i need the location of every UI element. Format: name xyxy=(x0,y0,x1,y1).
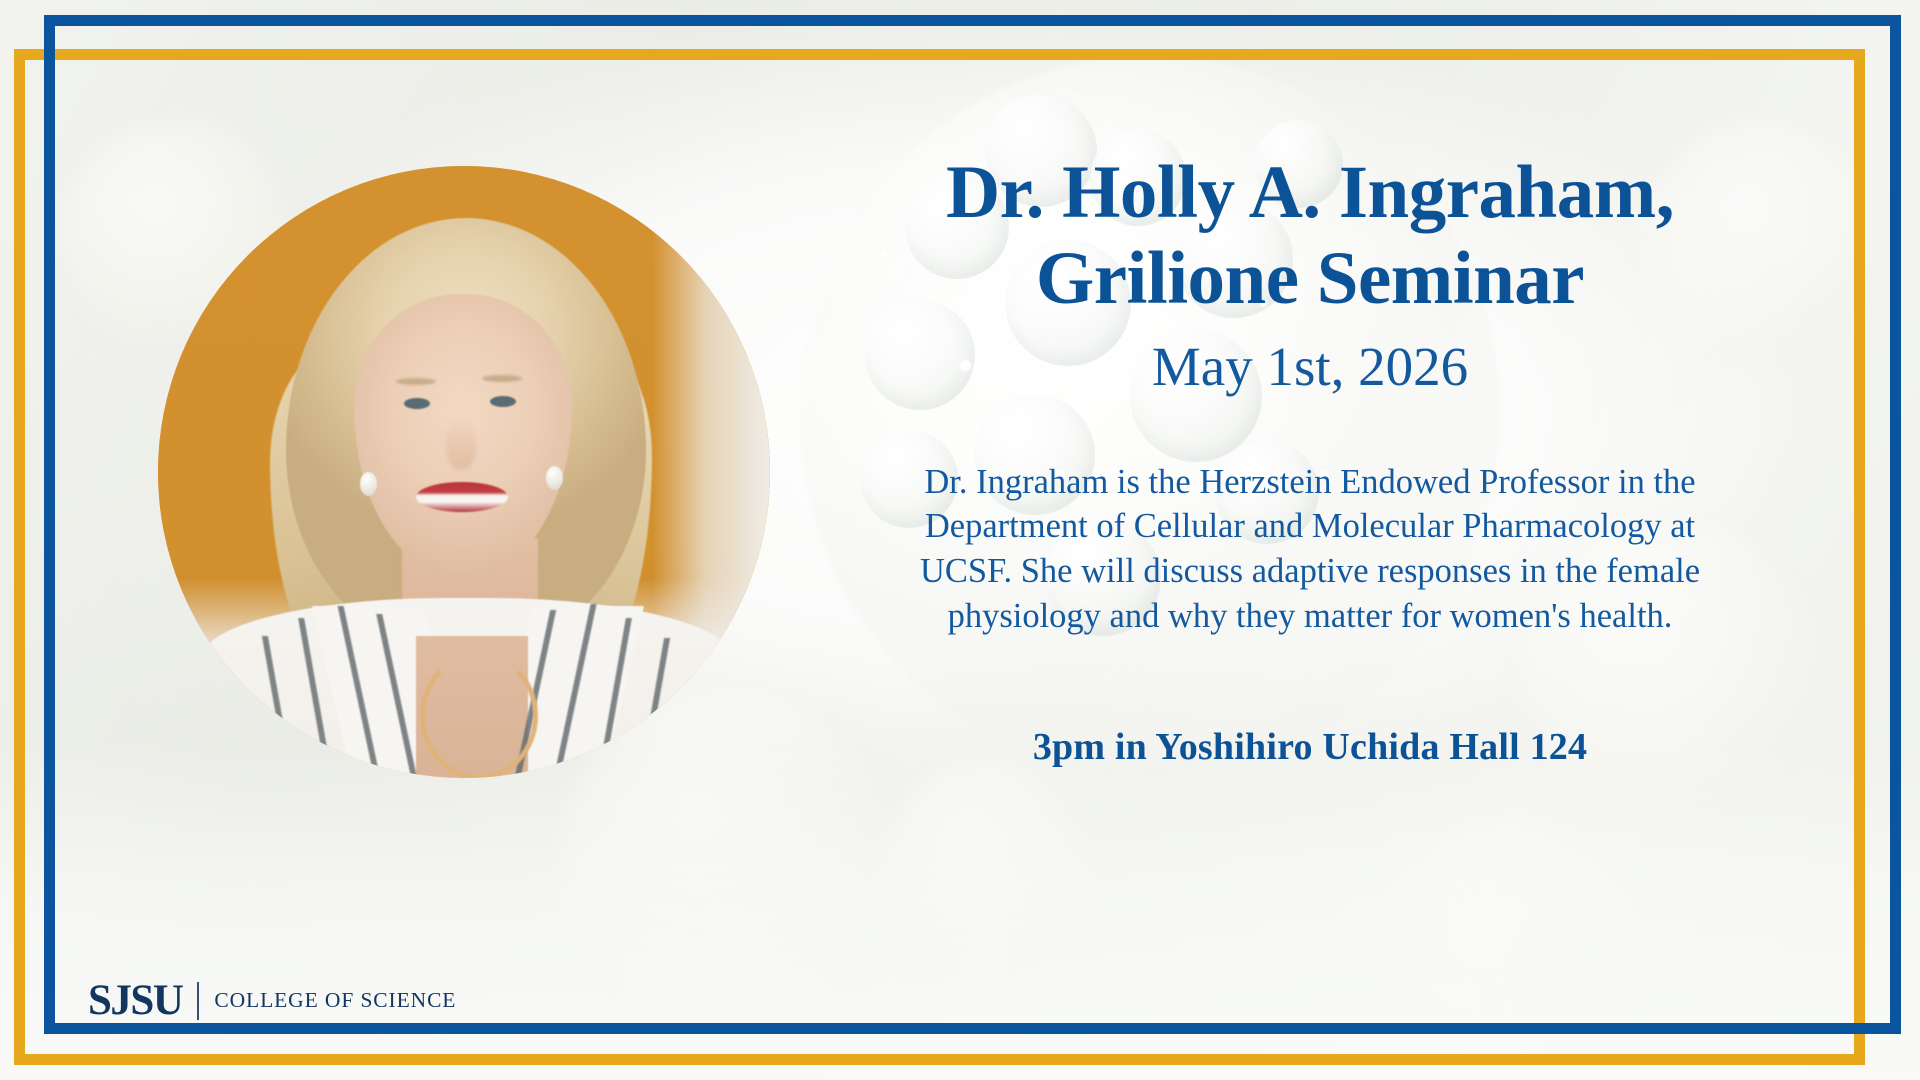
portrait-eyebrow-left xyxy=(396,378,436,385)
logo-divider xyxy=(197,982,199,1020)
sjsu-college-of-science-logo: SJSU COLLEGE OF SCIENCE xyxy=(88,979,456,1022)
logo-subtitle: COLLEGE OF SCIENCE xyxy=(214,990,456,1012)
portrait-eyebrow-right xyxy=(482,375,522,382)
portrait-eye-left xyxy=(404,398,430,409)
page-title: Dr. Holly A. Ingraham, Grilione Seminar xyxy=(810,150,1810,321)
portrait-eye-right xyxy=(490,396,516,407)
event-venue: 3pm in Yoshihiro Uchida Hall 124 xyxy=(810,725,1810,769)
seminar-poster: Dr. Holly A. Ingraham, Grilione Seminar … xyxy=(0,0,1920,1080)
sjsu-wordmark: SJSU xyxy=(88,979,182,1022)
portrait-earring-right xyxy=(546,466,563,490)
title-line-1: Dr. Holly A. Ingraham, xyxy=(946,151,1674,234)
abstract-line: UCSF. She will discuss adaptive response… xyxy=(840,549,1780,594)
poster-text-column: Dr. Holly A. Ingraham, Grilione Seminar … xyxy=(810,150,1810,769)
speaker-portrait xyxy=(158,166,770,778)
event-date: May 1st, 2026 xyxy=(810,337,1810,398)
portrait-necklace xyxy=(420,652,538,778)
portrait-smile xyxy=(416,482,508,512)
title-line-2: Grilione Seminar xyxy=(1036,237,1584,320)
abstract-line: physiology and why they matter for women… xyxy=(840,594,1780,639)
abstract-text: Dr. Ingraham is the Herzstein Endowed Pr… xyxy=(840,460,1780,639)
portrait-earring-left xyxy=(360,472,377,496)
portrait-nose xyxy=(446,418,476,470)
abstract-line: Dr. Ingraham is the Herzstein Endowed Pr… xyxy=(840,460,1780,505)
abstract-line: Department of Cellular and Molecular Pha… xyxy=(840,504,1780,549)
